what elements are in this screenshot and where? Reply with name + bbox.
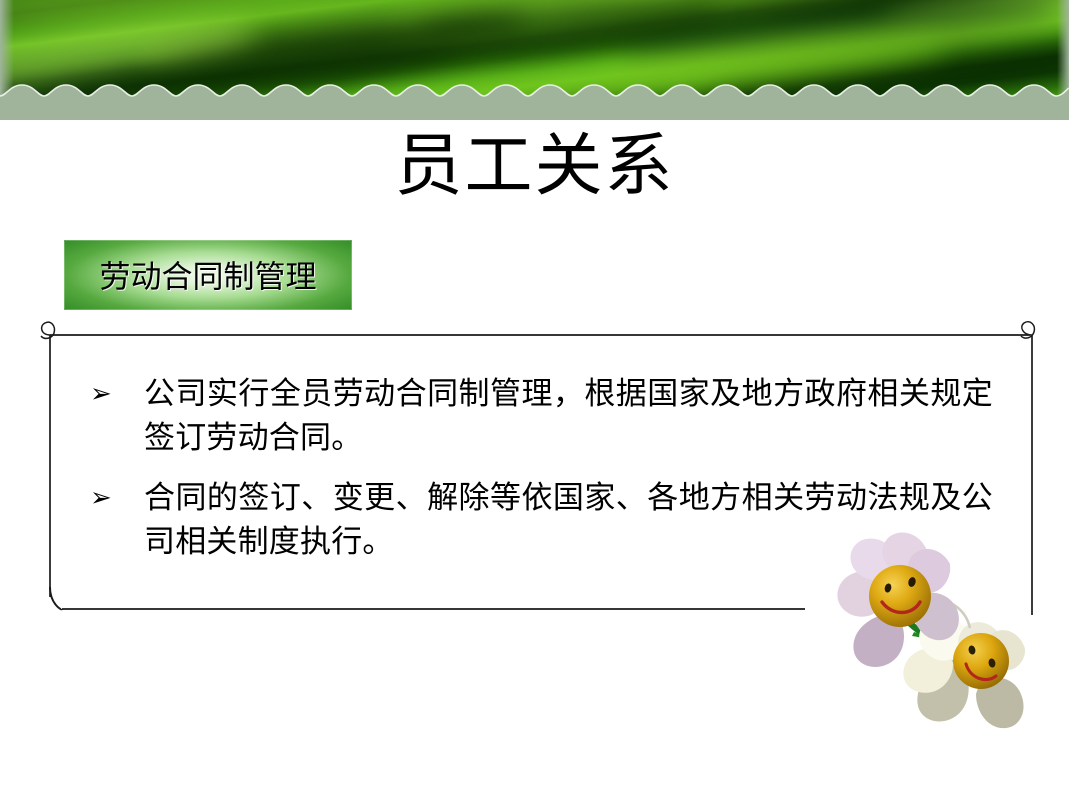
list-item: ➢ 公司实行全员劳动合同制管理，根据国家及地方政府相关规定签订劳动合同。 [88,372,993,460]
section-label-box: 劳动合同制管理 [64,240,352,310]
page-title: 员工关系 [0,132,1069,201]
arrowhead-bullet-icon: ➢ [88,372,144,416]
daisy-clipart-shape [800,518,1055,733]
scalloped-wave-band [0,84,1069,120]
wave-shape [0,84,1069,120]
daisy-clipart [800,518,1055,733]
list-item-text: 公司实行全员劳动合同制管理，根据国家及地方政府相关规定签订劳动合同。 [144,372,993,460]
section-label-text: 劳动合同制管理 [64,252,352,297]
slide-canvas: 员工关系 劳动合同制管理 [0,0,1069,797]
arrowhead-bullet-icon: ➢ [88,476,144,520]
